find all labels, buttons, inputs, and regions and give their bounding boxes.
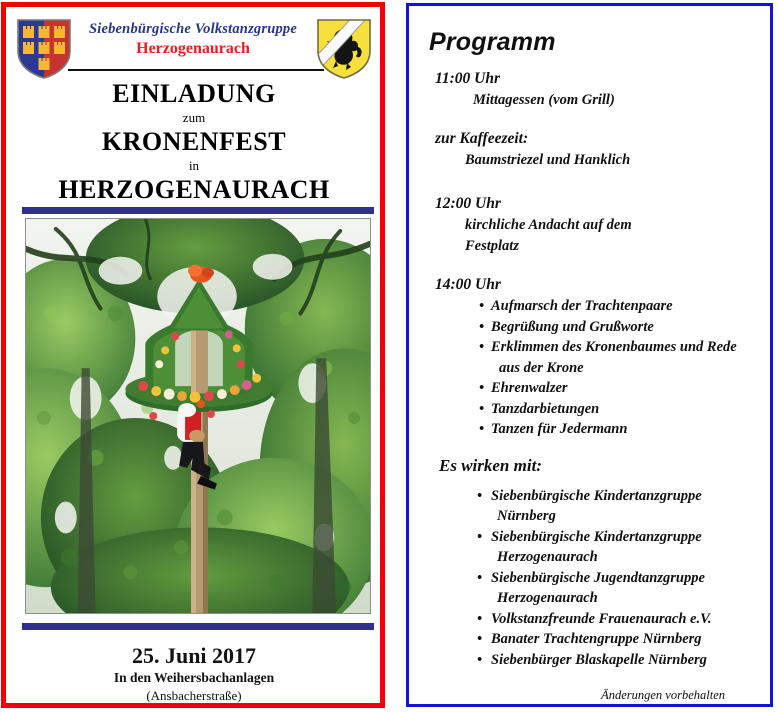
slot-description: Baumstriezel und Hanklich	[425, 150, 759, 171]
bullet-icon: •	[477, 609, 482, 630]
bullet-icon: •	[477, 486, 482, 507]
program-slot-2: zur Kaffeezeit: Baumstriezel und Hanklic…	[425, 128, 759, 171]
participants-list: • Siebenbürgische Kindertanzgruppe Nürnb…	[425, 486, 759, 671]
bullet-icon: •	[479, 399, 484, 420]
event-date: 25. Juni 2017	[18, 643, 370, 669]
list-item: • Siebenbürgische Jugendtanzgruppe Herzo…	[425, 568, 759, 609]
list-item: • Erklimmen des Kronenbaumes und Rede au…	[425, 337, 759, 378]
organisation-header: Siebenbürgische Volkstanzgruppe Herzogen…	[62, 21, 324, 59]
list-item: • Banater Trachtengruppe Nürnberg	[425, 629, 759, 650]
list-item: • Tanzdarbietungen	[425, 399, 759, 420]
list-item: • Ehrenwalzer	[425, 378, 759, 399]
flyer-page: Siebenbürgische Volkstanzgruppe Herzogen…	[0, 0, 781, 712]
slot-description: Mittagessen (vom Grill)	[425, 90, 759, 111]
list-item-label: Volkstanzfreunde Frauenaurach e.V.	[491, 611, 712, 627]
list-item-label: Siebenbürgische Kindertanzgruppe	[491, 488, 702, 504]
program-slot-1: 11:00 Uhr Mittagessen (vom Grill)	[425, 68, 759, 111]
organisation-name: Siebenbürgische Volkstanzgruppe	[62, 21, 324, 38]
list-item: • Siebenbürgische Kindertanzgruppe Herzo…	[425, 527, 759, 568]
list-item-label-cont: Herzogenaurach	[491, 547, 759, 568]
invitation-title: EINLADUNG zum KRONENFEST in HERZOGENAURA…	[18, 79, 370, 205]
list-item-label-cont: Herzogenaurach	[491, 588, 759, 609]
slot-time: 11:00 Uhr	[425, 68, 759, 90]
slot-time: zur Kaffeezeit:	[425, 128, 759, 150]
list-item-label: Siebenbürgische Kindertanzgruppe	[491, 529, 702, 545]
header-divider	[68, 69, 324, 71]
program-panel: Programm 11:00 Uhr Mittagessen (vom Gril…	[406, 3, 773, 707]
list-item-label: Siebenbürger Blaskapelle Nürnberg	[491, 652, 707, 668]
bullet-icon: •	[477, 650, 482, 671]
list-item-label: Begrüßung und Grußworte	[491, 319, 654, 335]
list-item-label: Tanzdarbietungen	[491, 401, 599, 417]
slot-description: kirchliche Andacht auf dem	[425, 215, 759, 236]
bullet-icon: •	[479, 337, 484, 358]
list-item-label: Ehrenwalzer	[491, 380, 568, 396]
bullet-icon: •	[477, 568, 482, 589]
program-body: 11:00 Uhr Mittagessen (vom Grill) zur Ka…	[425, 68, 759, 703]
list-item-label: Tanzen für Jedermann	[491, 421, 627, 437]
list-item: • Tanzen für Jedermann	[425, 419, 759, 440]
event-details: 25. Juni 2017 In den Weihersbachanlagen …	[18, 643, 370, 704]
list-item: • Volkstanzfreunde Frauenaurach e.V.	[425, 609, 759, 630]
list-item-label: Aufmarsch der Trachtenpaare	[491, 298, 673, 314]
title-in: in	[18, 157, 370, 175]
slot-time: 12:00 Uhr	[425, 193, 759, 215]
bullet-icon: •	[477, 629, 482, 650]
slot-time: 14:00 Uhr	[425, 274, 759, 296]
title-herzogenaurach: HERZOGENAURACH	[18, 175, 370, 205]
event-street: (Ansbacherstraße)	[18, 687, 370, 704]
kronenbaum-photo	[25, 218, 371, 614]
program-slot-3: 12:00 Uhr kirchliche Andacht auf dem Fes…	[425, 193, 759, 257]
program-activity-list: • Aufmarsch der Trachtenpaare • Begrüßun…	[425, 296, 759, 440]
list-item: • Begrüßung und Grußworte	[425, 317, 759, 338]
slot-description-line2: Festplatz	[425, 236, 759, 257]
divider-bar-top	[22, 207, 374, 214]
title-kronenfest: KRONENFEST	[18, 127, 370, 157]
organisation-city: Herzogenaurach	[62, 39, 324, 59]
divider-bar-bottom	[22, 623, 374, 630]
participants-heading: Es wirken mit:	[425, 454, 759, 478]
title-einladung: EINLADUNG	[18, 79, 370, 109]
list-item: • Siebenbürgische Kindertanzgruppe Nürnb…	[425, 486, 759, 527]
event-venue: In den Weihersbachanlagen	[18, 669, 370, 687]
bullet-icon: •	[477, 527, 482, 548]
list-item-label-cont: Nürnberg	[491, 506, 759, 527]
list-item: • Aufmarsch der Trachtenpaare	[425, 296, 759, 317]
disclaimer-note: Änderungen vorbehalten	[425, 688, 759, 703]
bullet-icon: •	[479, 419, 484, 440]
list-item-label: Banater Trachtengruppe Nürnberg	[491, 631, 702, 647]
title-zum: zum	[18, 109, 370, 127]
program-slot-4: 14:00 Uhr • Aufmarsch der Trachtenpaare …	[425, 274, 759, 440]
bullet-icon: •	[479, 378, 484, 399]
list-item-label-cont: aus der Krone	[491, 358, 759, 379]
bullet-icon: •	[479, 296, 484, 317]
list-item-label: Siebenbürgische Jugendtanzgruppe	[491, 570, 705, 586]
bullet-icon: •	[479, 317, 484, 338]
program-title: Programm	[429, 28, 556, 57]
list-item: • Siebenbürger Blaskapelle Nürnberg	[425, 650, 759, 671]
invitation-panel: Siebenbürgische Volkstanzgruppe Herzogen…	[1, 2, 385, 708]
list-item-label: Erklimmen des Kronenbaumes und Rede	[491, 339, 737, 355]
